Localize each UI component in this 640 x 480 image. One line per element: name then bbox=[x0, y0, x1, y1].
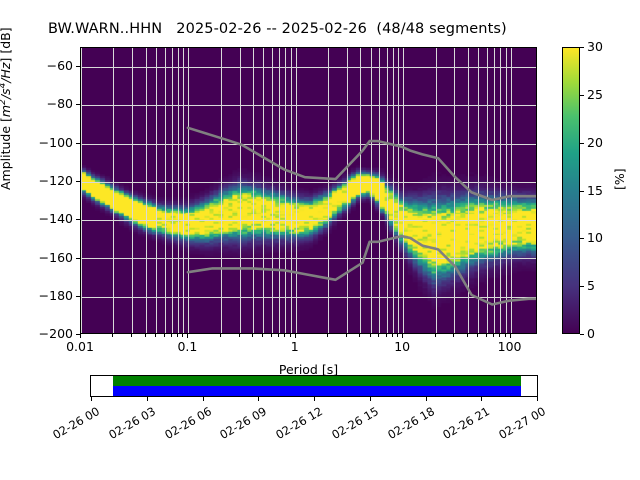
timeline-tick-label: 02-26 00 bbox=[50, 404, 102, 442]
timeline-tick-label: 02-26 03 bbox=[106, 404, 158, 442]
ppsd-plot-area[interactable] bbox=[80, 47, 537, 334]
x-axis-minor-tick bbox=[397, 334, 398, 337]
timeline-tick bbox=[370, 397, 371, 401]
colorbar-tick bbox=[580, 47, 584, 48]
colorbar-tick-label: 5 bbox=[587, 278, 595, 293]
y-axis-tick bbox=[76, 104, 80, 105]
x-axis-minor-tick bbox=[164, 334, 165, 337]
x-axis-tick-label: 0.01 bbox=[66, 339, 94, 354]
noise-model-lines bbox=[81, 48, 536, 333]
y-axis-unit-hz: /Hz bbox=[0, 63, 13, 83]
x-axis-minor-tick bbox=[112, 334, 113, 337]
timeline-tick bbox=[147, 397, 148, 401]
x-axis-minor-tick bbox=[477, 334, 478, 337]
x-axis-minor-tick bbox=[271, 334, 272, 337]
x-axis-tick-label: 10 bbox=[394, 339, 410, 354]
x-axis-minor-tick bbox=[359, 334, 360, 337]
y-axis-label: Amplitude [m2/s4/Hz] [dB] bbox=[0, 27, 13, 190]
x-axis-minor-tick bbox=[262, 334, 263, 337]
x-axis-major-tick bbox=[80, 334, 81, 338]
timeline-tick-label: 02-26 06 bbox=[162, 404, 214, 442]
noise-model-nlnm bbox=[188, 236, 536, 304]
y-axis-unit-s: /s bbox=[0, 88, 13, 99]
colorbar-tick-label: 10 bbox=[587, 230, 603, 245]
x-axis-minor-tick bbox=[435, 334, 436, 337]
y-axis-tick-label: −80 bbox=[47, 96, 73, 111]
noise-model-nhnm bbox=[188, 128, 536, 200]
timeline-tick bbox=[91, 397, 92, 401]
x-axis-minor-tick bbox=[182, 334, 183, 337]
y-axis-tick bbox=[76, 143, 80, 144]
x-axis-minor-tick bbox=[145, 334, 146, 337]
timeline-tick bbox=[258, 397, 259, 401]
timeline-tick-label: 02-26 21 bbox=[441, 404, 493, 442]
x-axis-minor-tick bbox=[290, 334, 291, 337]
timeline-tick-label: 02-27 00 bbox=[496, 404, 548, 442]
plot-title: BW.WARN..HHN 2025-02-26 -- 2025-02-26 (4… bbox=[48, 21, 507, 37]
timeline-psd-bar bbox=[113, 386, 521, 396]
x-axis-minor-tick bbox=[131, 334, 132, 337]
timeline-tick bbox=[537, 397, 538, 401]
x-axis-tick-label: 0.1 bbox=[177, 339, 197, 354]
x-axis-minor-tick bbox=[155, 334, 156, 337]
x-axis-minor-tick bbox=[220, 334, 221, 337]
timeline-tick-label: 02-26 15 bbox=[329, 404, 381, 442]
colorbar-tick bbox=[580, 143, 584, 144]
x-axis-minor-tick bbox=[453, 334, 454, 337]
colorbar-tick bbox=[580, 191, 584, 192]
x-axis-ticks: 0.010.1110100 bbox=[80, 334, 537, 356]
x-axis-minor-tick bbox=[171, 334, 172, 337]
x-axis-major-tick bbox=[187, 334, 188, 338]
timeline-tick bbox=[314, 397, 315, 401]
x-axis-minor-tick bbox=[284, 334, 285, 337]
y-axis-label-suffix: ] [dB] bbox=[0, 27, 13, 62]
timeline-ticks: 02-26 0002-26 0302-26 0602-26 0902-26 12… bbox=[90, 397, 538, 409]
timeline-tick bbox=[481, 397, 482, 401]
y-axis-tick bbox=[76, 219, 80, 220]
colorbar-tick-label: 0 bbox=[587, 326, 595, 341]
x-axis-minor-tick bbox=[467, 334, 468, 337]
x-axis-minor-tick bbox=[370, 334, 371, 337]
x-axis-major-tick bbox=[295, 334, 296, 338]
x-axis-minor-tick bbox=[327, 334, 328, 337]
y-axis-tick-label: −60 bbox=[47, 58, 73, 73]
x-axis-major-tick bbox=[510, 334, 511, 338]
x-axis-minor-tick bbox=[499, 334, 500, 337]
x-axis-minor-tick bbox=[386, 334, 387, 337]
colorbar-tick-label: 20 bbox=[587, 135, 603, 150]
timeline-tick-label: 02-26 18 bbox=[385, 404, 437, 442]
x-axis-minor-tick bbox=[505, 334, 506, 337]
colorbar-tick-label: 30 bbox=[587, 39, 603, 54]
x-axis-minor-tick bbox=[177, 334, 178, 337]
y-axis-label-prefix: Amplitude [ bbox=[0, 117, 13, 190]
colorbar-tick-label: 25 bbox=[587, 87, 603, 102]
colorbar-tick bbox=[580, 334, 584, 335]
ppsd-figure: BW.WARN..HHN 2025-02-26 -- 2025-02-26 (4… bbox=[0, 0, 640, 480]
y-axis-tick bbox=[76, 296, 80, 297]
timeline-tick bbox=[203, 397, 204, 401]
colorbar bbox=[562, 47, 580, 334]
x-axis-minor-tick bbox=[486, 334, 487, 337]
x-axis-minor-tick bbox=[252, 334, 253, 337]
y-axis-tick bbox=[76, 66, 80, 67]
timeline-tick-label: 02-26 09 bbox=[218, 404, 270, 442]
timeline-tick-label: 02-26 12 bbox=[273, 404, 325, 442]
y-axis-tick-label: −120 bbox=[39, 173, 73, 188]
y-axis-tick bbox=[76, 181, 80, 182]
y-axis-tick-label: −180 bbox=[39, 288, 73, 303]
x-axis-major-tick bbox=[402, 334, 403, 338]
y-axis-unit-exp2: 2 bbox=[0, 99, 8, 105]
colorbar-tick bbox=[580, 286, 584, 287]
x-axis-minor-tick bbox=[378, 334, 379, 337]
timeline-coverage-axes[interactable] bbox=[90, 375, 538, 397]
colorbar-tick-label: 15 bbox=[587, 183, 603, 198]
x-axis-minor-tick bbox=[278, 334, 279, 337]
y-axis-tick-label: −160 bbox=[39, 250, 73, 265]
timeline-tick bbox=[426, 397, 427, 401]
x-axis-minor-tick bbox=[493, 334, 494, 337]
x-axis-tick-label: 1 bbox=[291, 339, 299, 354]
timeline-data-bar bbox=[113, 376, 521, 386]
colorbar-tick bbox=[580, 238, 584, 239]
x-axis-minor-tick bbox=[392, 334, 393, 337]
y-axis-unit-m: m bbox=[0, 105, 13, 117]
x-axis-tick-label: 100 bbox=[498, 339, 522, 354]
colorbar-label: [%] bbox=[612, 168, 627, 190]
y-axis-tick-label: −100 bbox=[39, 135, 73, 150]
x-axis-minor-tick bbox=[239, 334, 240, 337]
x-axis-minor-tick bbox=[346, 334, 347, 337]
colorbar-tick bbox=[580, 95, 584, 96]
y-axis-tick bbox=[76, 258, 80, 259]
y-axis-unit-exp4: 4 bbox=[0, 83, 8, 89]
y-axis-tick-label: −140 bbox=[39, 211, 73, 226]
